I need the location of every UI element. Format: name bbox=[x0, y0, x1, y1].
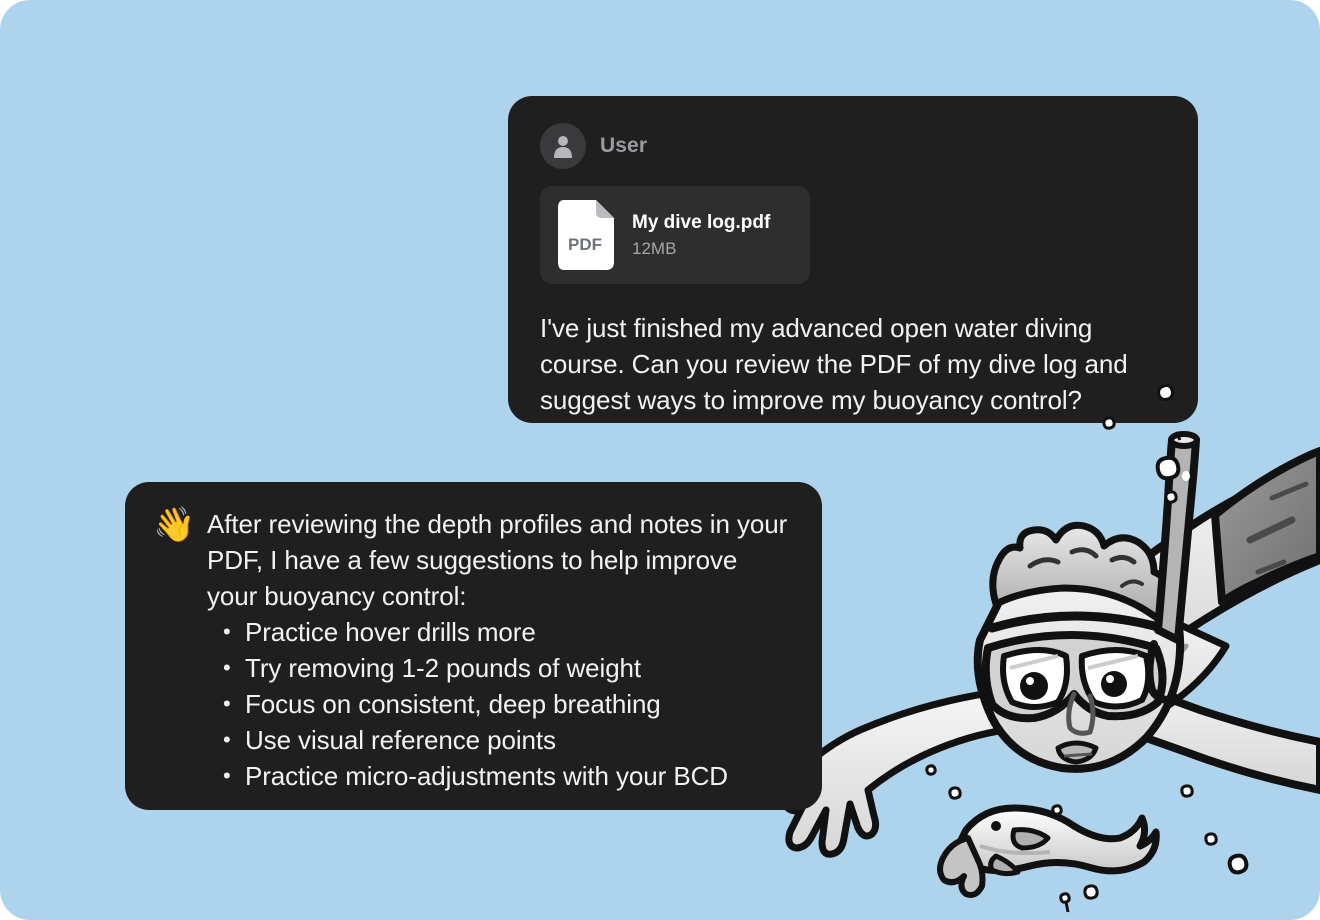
suggestion-list-item: Try removing 1-2 pounds of weight bbox=[245, 650, 792, 686]
fish-illustration bbox=[940, 808, 1156, 895]
assistant-message-bubble: 👋 After reviewing the depth profiles and… bbox=[125, 482, 822, 810]
pdf-attachment-card[interactable]: PDF My dive log.pdf 12MB bbox=[540, 186, 810, 284]
user-message-header: User bbox=[540, 120, 1166, 172]
suggestion-list-item: Use visual reference points bbox=[245, 722, 792, 758]
assistant-text-block: After reviewing the depth profiles and n… bbox=[207, 506, 792, 794]
attachment-file-name: My dive log.pdf bbox=[632, 212, 770, 234]
person-icon bbox=[540, 123, 586, 169]
assistant-message-content: 👋 After reviewing the depth profiles and… bbox=[153, 506, 792, 794]
diver-shoulder bbox=[1060, 610, 1226, 738]
diver-torso bbox=[1090, 451, 1320, 672]
suggestion-list: Practice hover drills moreTry removing 1… bbox=[207, 614, 792, 794]
user-message-bubble: User PDF My dive log.pdf 12MB I've just … bbox=[508, 96, 1198, 423]
attachment-file-size: 12MB bbox=[632, 239, 770, 259]
air-bubbles-background bbox=[927, 458, 1247, 912]
suggestion-list-item: Practice hover drills more bbox=[245, 614, 792, 650]
assistant-intro-text: After reviewing the depth profiles and n… bbox=[207, 506, 792, 614]
waving-hand-emoji: 👋 bbox=[153, 506, 195, 794]
svg-text:PDF: PDF bbox=[568, 235, 602, 254]
suggestion-list-item: Focus on consistent, deep breathing bbox=[245, 686, 792, 722]
screenshot-canvas: User PDF My dive log.pdf 12MB I've just … bbox=[0, 0, 1320, 920]
suggestion-list-item: Practice micro-adjustments with your BCD bbox=[245, 758, 792, 794]
diver-right-arm bbox=[1072, 668, 1320, 790]
diver-head bbox=[978, 525, 1180, 769]
message-author-label: User bbox=[600, 134, 647, 158]
snorkel-tube bbox=[1149, 434, 1197, 700]
attachment-meta: My dive log.pdf 12MB bbox=[632, 212, 770, 259]
user-message-text: I've just finished my advanced open wate… bbox=[540, 310, 1166, 418]
pdf-file-icon: PDF bbox=[558, 200, 614, 270]
